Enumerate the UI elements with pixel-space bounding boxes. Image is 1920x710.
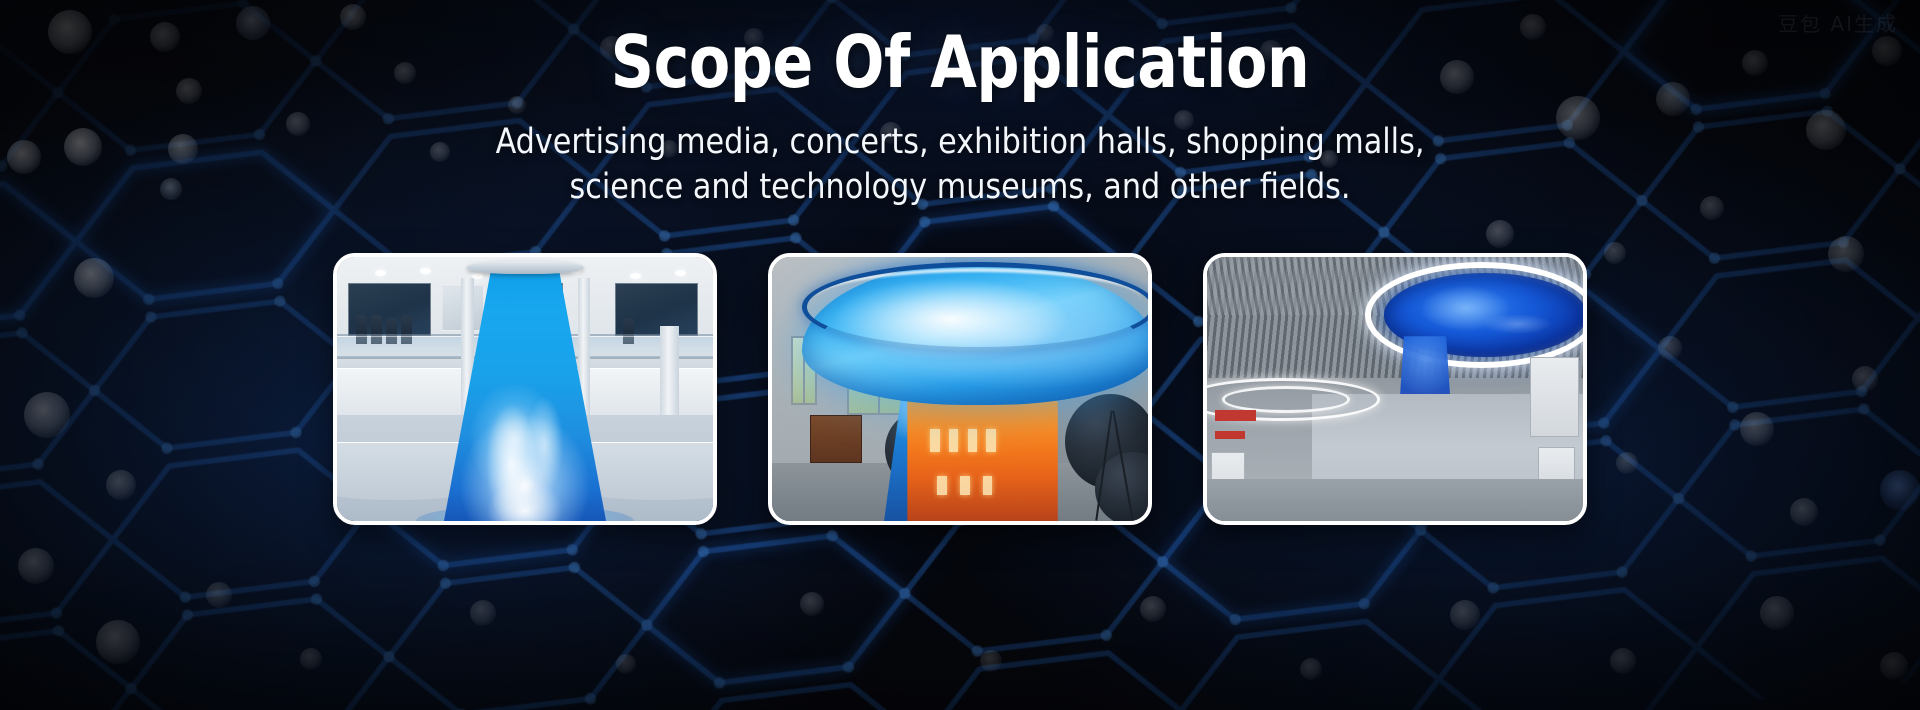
photo-science-museum-vortex-column	[337, 257, 713, 521]
scope-of-application-banner: Scope Of Application Advertising media, …	[0, 0, 1920, 710]
gallery-card-science-museum-vortex-column[interactable]	[333, 253, 717, 525]
photo-shopping-mall-ceiling-led	[1207, 257, 1583, 521]
image-gallery	[0, 253, 1920, 525]
subtitle-line-2: science and technology museums, and othe…	[38, 165, 1881, 211]
page-subtitle: Advertising media, concerts, exhibition …	[38, 120, 1881, 211]
headings-block: Scope Of Application Advertising media, …	[0, 24, 1920, 211]
page-title: Scope Of Application	[67, 24, 1853, 102]
photo-studio-trumpet-led-screen	[772, 257, 1148, 521]
ai-watermark: 豆包 AI生成	[1778, 8, 1898, 37]
gallery-card-shopping-mall-ceiling-led[interactable]	[1203, 253, 1587, 525]
gallery-card-studio-trumpet-led-screen[interactable]	[768, 253, 1152, 525]
subtitle-line-1: Advertising media, concerts, exhibition …	[38, 120, 1881, 166]
